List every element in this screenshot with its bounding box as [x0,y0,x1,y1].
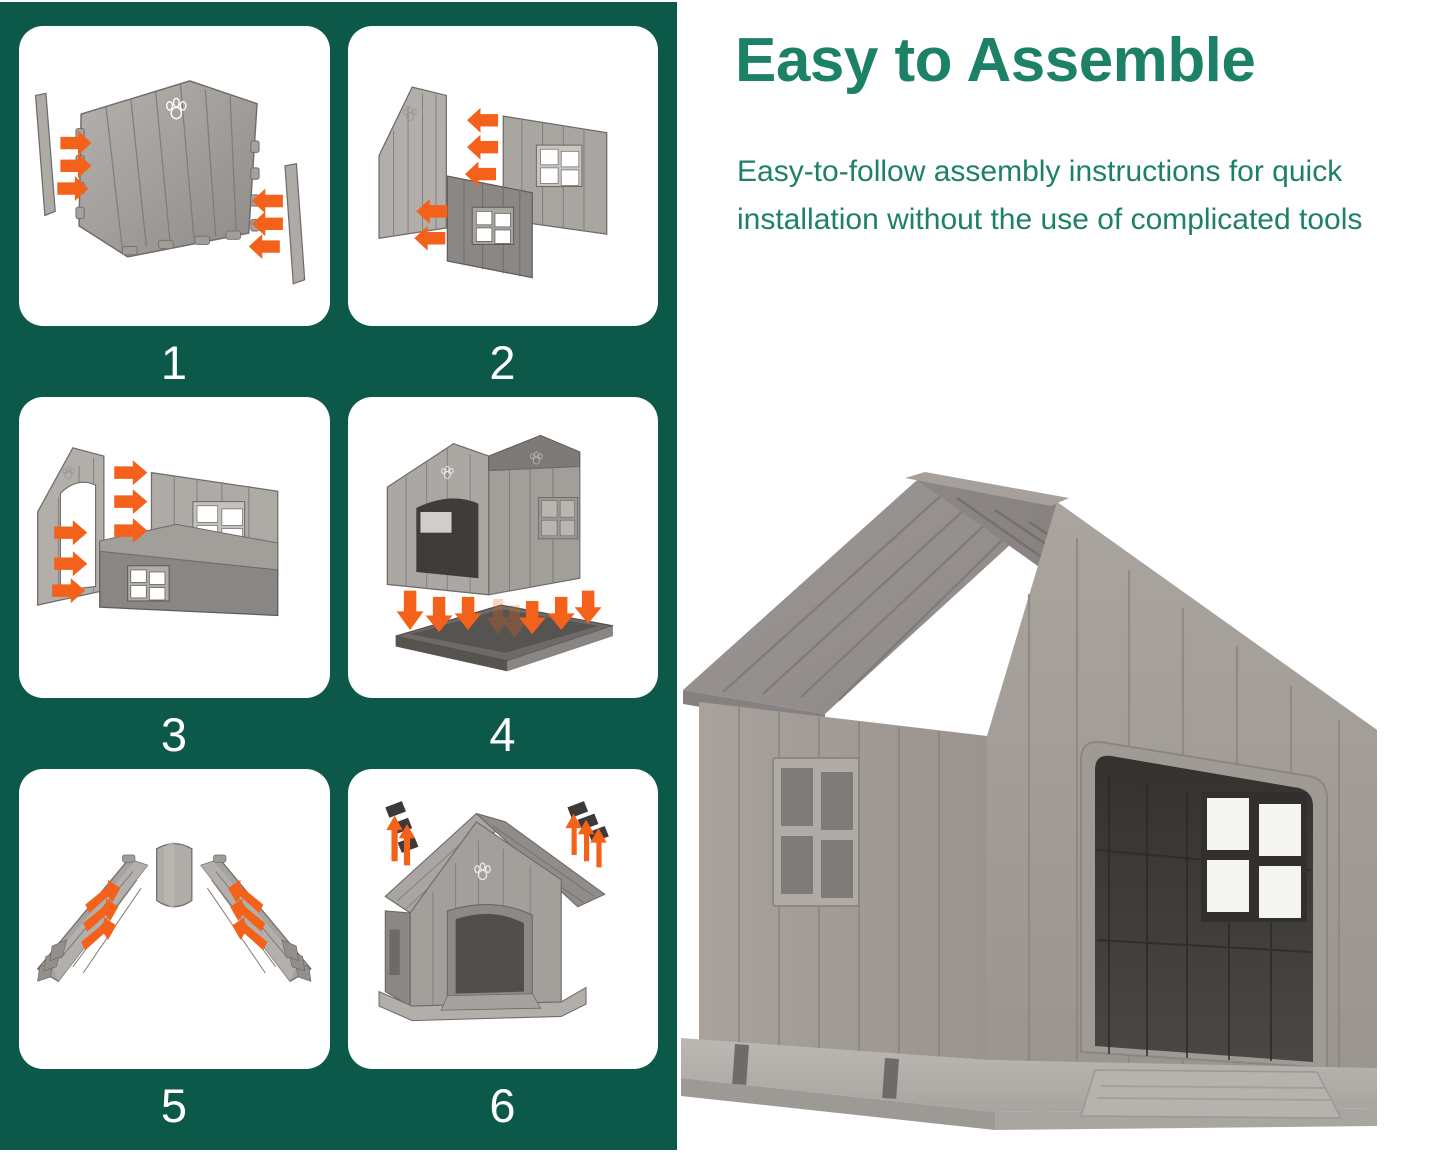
step-number-5: 5 [19,1069,330,1140]
assembly-steps-panel: 1 [0,2,677,1150]
front-gable-wall [987,502,1377,1070]
interior-window [1201,792,1307,922]
step-5-roof-halves-and-ridge-cap [19,769,330,1069]
step-row-2: 3 [19,397,658,768]
step-row-3: 5 [19,769,658,1140]
side-window [773,758,859,906]
step-cell-2: 2 [348,26,659,397]
step-4-lower-walls-onto-base [348,397,659,697]
dog-house-product-photo [677,440,1445,1140]
step-number-2: 2 [348,326,659,397]
step-cell-3: 3 [19,397,330,768]
left-side-wall [699,702,987,1060]
step-cell-1: 1 [19,26,330,397]
step-number-3: 3 [19,698,330,769]
step-cell-6: 6 [348,769,659,1140]
page-subtitle: Easy-to-follow assembly instructions for… [737,148,1407,244]
step-number-6: 6 [348,1069,659,1140]
door-threshold-ramp [1081,1070,1341,1118]
step-2-side-walls-with-windows [348,26,659,326]
page-title: Easy to Assemble [735,28,1425,94]
product-copy-column: Easy to Assemble Easy-to-follow assembly… [677,0,1445,1153]
step-1-back-wall-and-side-strips [19,26,330,326]
step-cell-5: 5 [19,769,330,1140]
step-row-1: 1 [19,26,658,397]
infographic-page: 1 [0,0,1445,1153]
step-cell-4: 4 [348,397,659,768]
step-number-4: 4 [348,698,659,769]
step-3-front-wall-with-doorway [19,397,330,697]
step-number-1: 1 [19,326,330,397]
step-6-attach-roof-complete [348,769,659,1069]
door-opening [1081,742,1327,1068]
